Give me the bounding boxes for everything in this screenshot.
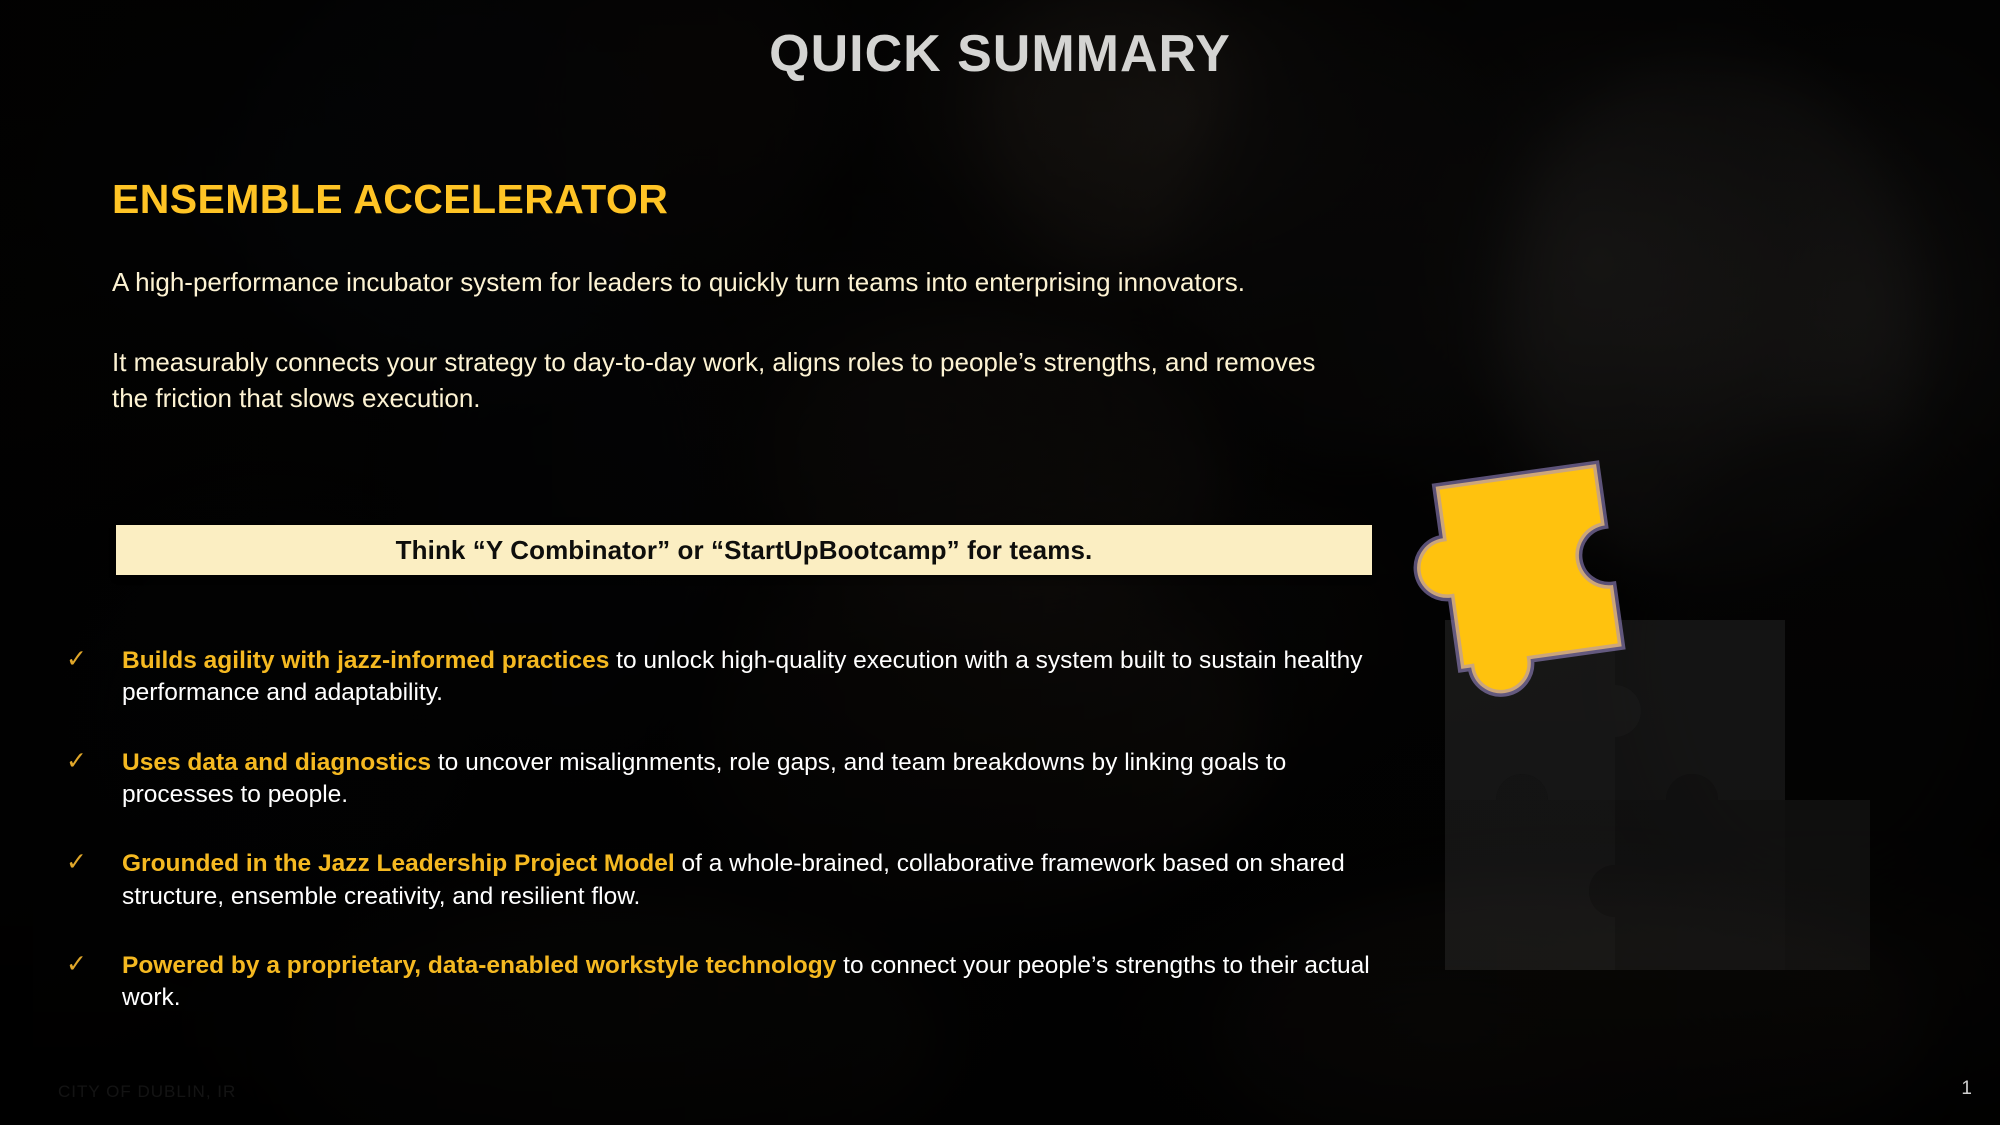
callout-text: Think “Y Combinator” or “StartUpBootcamp… [396,535,1093,566]
check-icon: ✓ [66,749,87,774]
bullet-list: ✓ Builds agility with jazz-informed prac… [60,645,1390,1015]
list-item: ✓ Uses data and diagnostics to uncover m… [60,747,1390,812]
list-item-lead: Powered by a proprietary, data-enabled w… [122,952,836,979]
list-item: ✓ Grounded in the Jazz Leadership Projec… [60,848,1390,913]
list-item-text: Uses data and diagnostics to uncover mis… [122,749,1286,808]
section-headline: ENSEMBLE ACCELERATOR [112,176,668,223]
list-item-text: Grounded in the Jazz Leadership Project … [122,850,1345,909]
list-item: ✓ Builds agility with jazz-informed prac… [60,645,1390,710]
footer-watermark: CITY OF DUBLIN, IR [58,1082,236,1102]
check-icon: ✓ [66,952,87,977]
intro-paragraph-1: A high-performance incubator system for … [112,265,1322,301]
check-icon: ✓ [66,850,87,875]
page-title: QUICK SUMMARY [0,24,2000,84]
puzzle-graphic [1400,500,2000,1000]
check-icon: ✓ [66,647,87,672]
list-item-lead: Builds agility with jazz-informed practi… [122,647,609,674]
list-item-text: Powered by a proprietary, data-enabled w… [122,952,1370,1011]
intro-paragraph-2: It measurably connects your strategy to … [112,345,1322,417]
intro-block: A high-performance incubator system for … [112,265,1322,417]
callout-box: Think “Y Combinator” or “StartUpBootcamp… [116,525,1372,575]
list-item-lead: Grounded in the Jazz Leadership Project … [122,850,675,877]
list-item: ✓ Powered by a proprietary, data-enabled… [60,950,1390,1015]
slide-quick-summary: QUICK SUMMARY ENSEMBLE ACCELERATOR A hig… [0,0,2000,1125]
list-item-text: Builds agility with jazz-informed practi… [122,647,1362,706]
page-number: 1 [1961,1078,1972,1100]
list-item-lead: Uses data and diagnostics [122,749,431,776]
